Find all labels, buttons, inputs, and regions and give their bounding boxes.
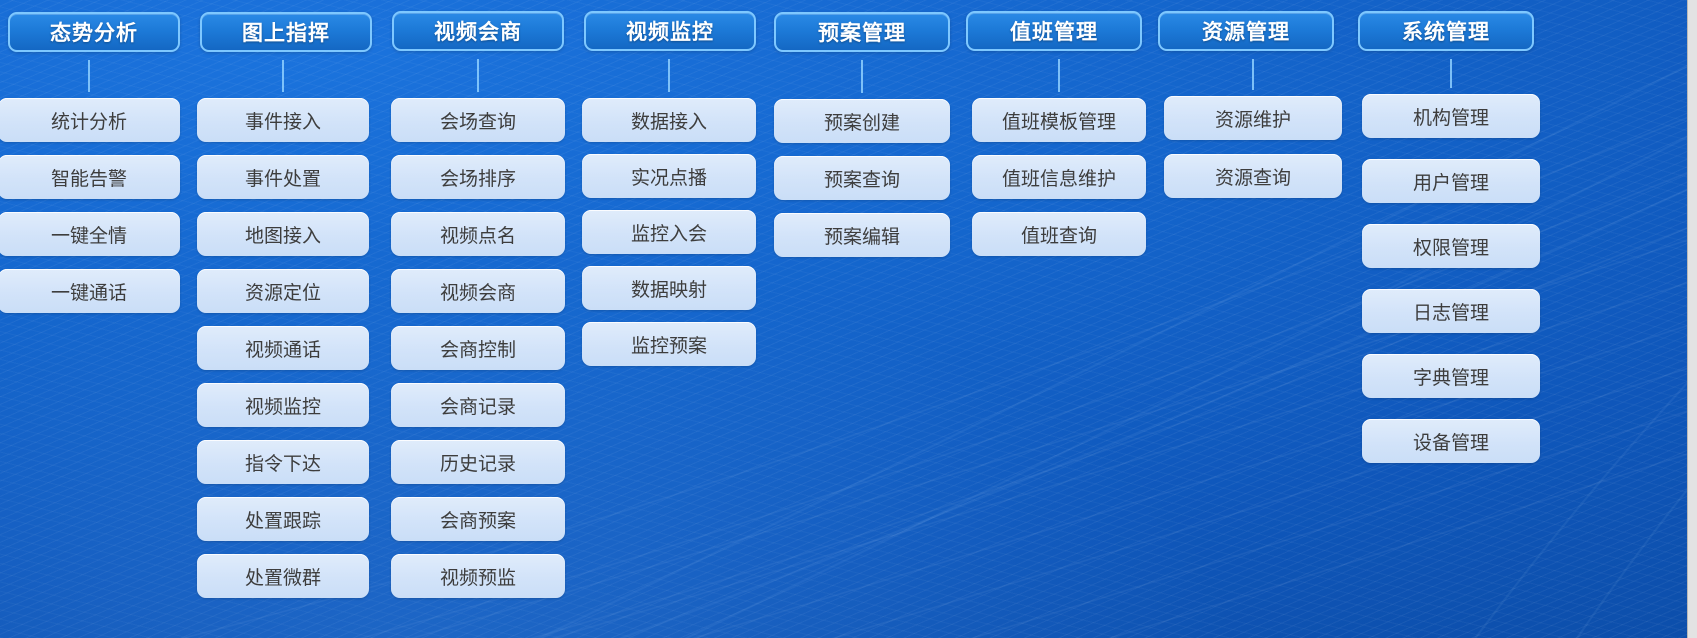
menu-item-system-management-1[interactable]: 机构管理	[1362, 94, 1540, 138]
connector-line-system-management	[1450, 59, 1452, 88]
right-edge-strip	[1687, 0, 1697, 638]
menu-item-system-management-2[interactable]: 用户管理	[1362, 159, 1540, 203]
menu-item-map-command-6[interactable]: 视频监控	[197, 383, 369, 427]
menu-item-duty-management-3[interactable]: 值班查询	[972, 212, 1146, 256]
menu-header-plan-management[interactable]: 预案管理	[774, 12, 950, 52]
menu-item-map-command-2[interactable]: 事件处置	[197, 155, 369, 199]
menu-item-video-conference-7[interactable]: 历史记录	[391, 440, 565, 484]
menu-item-video-surveillance-4[interactable]: 数据映射	[582, 266, 756, 310]
menu-item-video-surveillance-3[interactable]: 监控入会	[582, 210, 756, 254]
menu-item-video-surveillance-1[interactable]: 数据接入	[582, 98, 756, 142]
connector-line-map-command	[282, 60, 284, 92]
menu-header-system-management[interactable]: 系统管理	[1358, 11, 1534, 51]
menu-item-video-conference-2[interactable]: 会场排序	[391, 155, 565, 199]
connector-line-duty-management	[1058, 59, 1060, 92]
menu-header-situation-analysis[interactable]: 态势分析	[8, 12, 180, 52]
menu-item-situation-analysis-3[interactable]: 一键全情	[0, 212, 180, 256]
menu-item-video-conference-9[interactable]: 视频预监	[391, 554, 565, 598]
menu-item-system-management-4[interactable]: 日志管理	[1362, 289, 1540, 333]
menu-item-map-command-8[interactable]: 处置跟踪	[197, 497, 369, 541]
menu-item-map-command-1[interactable]: 事件接入	[197, 98, 369, 142]
menu-item-plan-management-2[interactable]: 预案查询	[774, 156, 950, 200]
menu-item-plan-management-3[interactable]: 预案编辑	[774, 213, 950, 257]
menu-item-video-surveillance-5[interactable]: 监控预案	[582, 322, 756, 366]
menu-item-resource-management-2[interactable]: 资源查询	[1164, 154, 1342, 198]
menu-item-video-conference-1[interactable]: 会场查询	[391, 98, 565, 142]
menu-item-video-conference-6[interactable]: 会商记录	[391, 383, 565, 427]
menu-item-plan-management-1[interactable]: 预案创建	[774, 99, 950, 143]
menu-item-map-command-3[interactable]: 地图接入	[197, 212, 369, 256]
menu-item-duty-management-1[interactable]: 值班模板管理	[972, 98, 1146, 142]
menu-item-video-surveillance-2[interactable]: 实况点播	[582, 154, 756, 198]
menu-item-video-conference-5[interactable]: 会商控制	[391, 326, 565, 370]
menu-item-map-command-9[interactable]: 处置微群	[197, 554, 369, 598]
menu-item-situation-analysis-4[interactable]: 一键通话	[0, 269, 180, 313]
menu-item-video-conference-4[interactable]: 视频会商	[391, 269, 565, 313]
menu-item-duty-management-2[interactable]: 值班信息维护	[972, 155, 1146, 199]
menu-header-resource-management[interactable]: 资源管理	[1158, 11, 1334, 51]
connector-line-plan-management	[861, 60, 863, 93]
menu-item-map-command-7[interactable]: 指令下达	[197, 440, 369, 484]
menu-item-video-conference-8[interactable]: 会商预案	[391, 497, 565, 541]
menu-header-duty-management[interactable]: 值班管理	[966, 11, 1142, 51]
menu-item-situation-analysis-1[interactable]: 统计分析	[0, 98, 180, 142]
connector-line-resource-management	[1252, 59, 1254, 90]
menu-item-system-management-6[interactable]: 设备管理	[1362, 419, 1540, 463]
menu-header-map-command[interactable]: 图上指挥	[200, 12, 372, 52]
menu-item-map-command-4[interactable]: 资源定位	[197, 269, 369, 313]
menu-item-situation-analysis-2[interactable]: 智能告警	[0, 155, 180, 199]
menu-header-video-conference[interactable]: 视频会商	[392, 11, 564, 51]
connector-line-video-conference	[477, 59, 479, 92]
menu-item-video-conference-3[interactable]: 视频点名	[391, 212, 565, 256]
menu-header-video-surveillance[interactable]: 视频监控	[584, 11, 756, 51]
menu-item-map-command-5[interactable]: 视频通话	[197, 326, 369, 370]
menu-item-system-management-3[interactable]: 权限管理	[1362, 224, 1540, 268]
menu-item-resource-management-1[interactable]: 资源维护	[1164, 96, 1342, 140]
connector-line-situation-analysis	[88, 60, 90, 92]
connector-line-video-surveillance	[668, 59, 670, 92]
menu-item-system-management-5[interactable]: 字典管理	[1362, 354, 1540, 398]
menu-map-canvas: 态势分析统计分析智能告警一键全情一键通话图上指挥事件接入事件处置地图接入资源定位…	[0, 0, 1697, 638]
